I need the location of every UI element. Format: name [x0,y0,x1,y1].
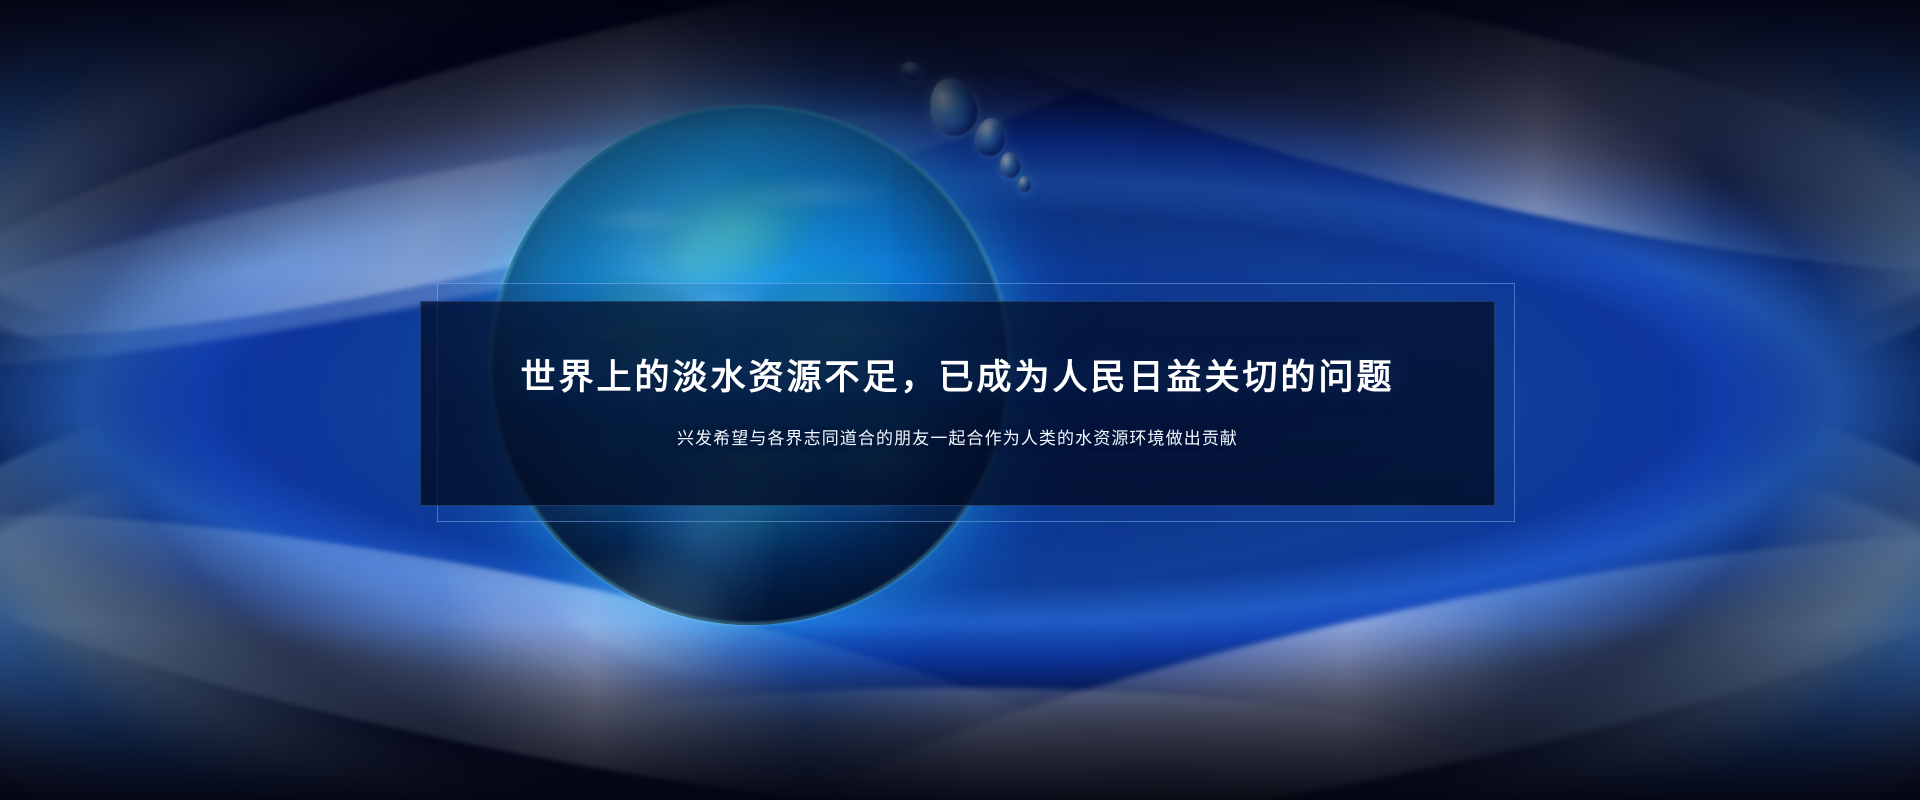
vignette-top [0,0,1920,272]
hero-banner: 世界上的淡水资源不足，已成为人民日益关切的问题 兴发希望与各界志同道合的朋友一起… [0,0,1920,800]
banner-headline: 世界上的淡水资源不足，已成为人民日益关切的问题 [520,356,1394,400]
vignette-bottom [0,624,1920,800]
banner-subline: 兴发希望与各界志同道合的朋友一起合作为人类的水资源环境做出贡献 [677,427,1238,451]
overlay-text-panel: 世界上的淡水资源不足，已成为人民日益关切的问题 兴发希望与各界志同道合的朋友一起… [420,301,1495,506]
